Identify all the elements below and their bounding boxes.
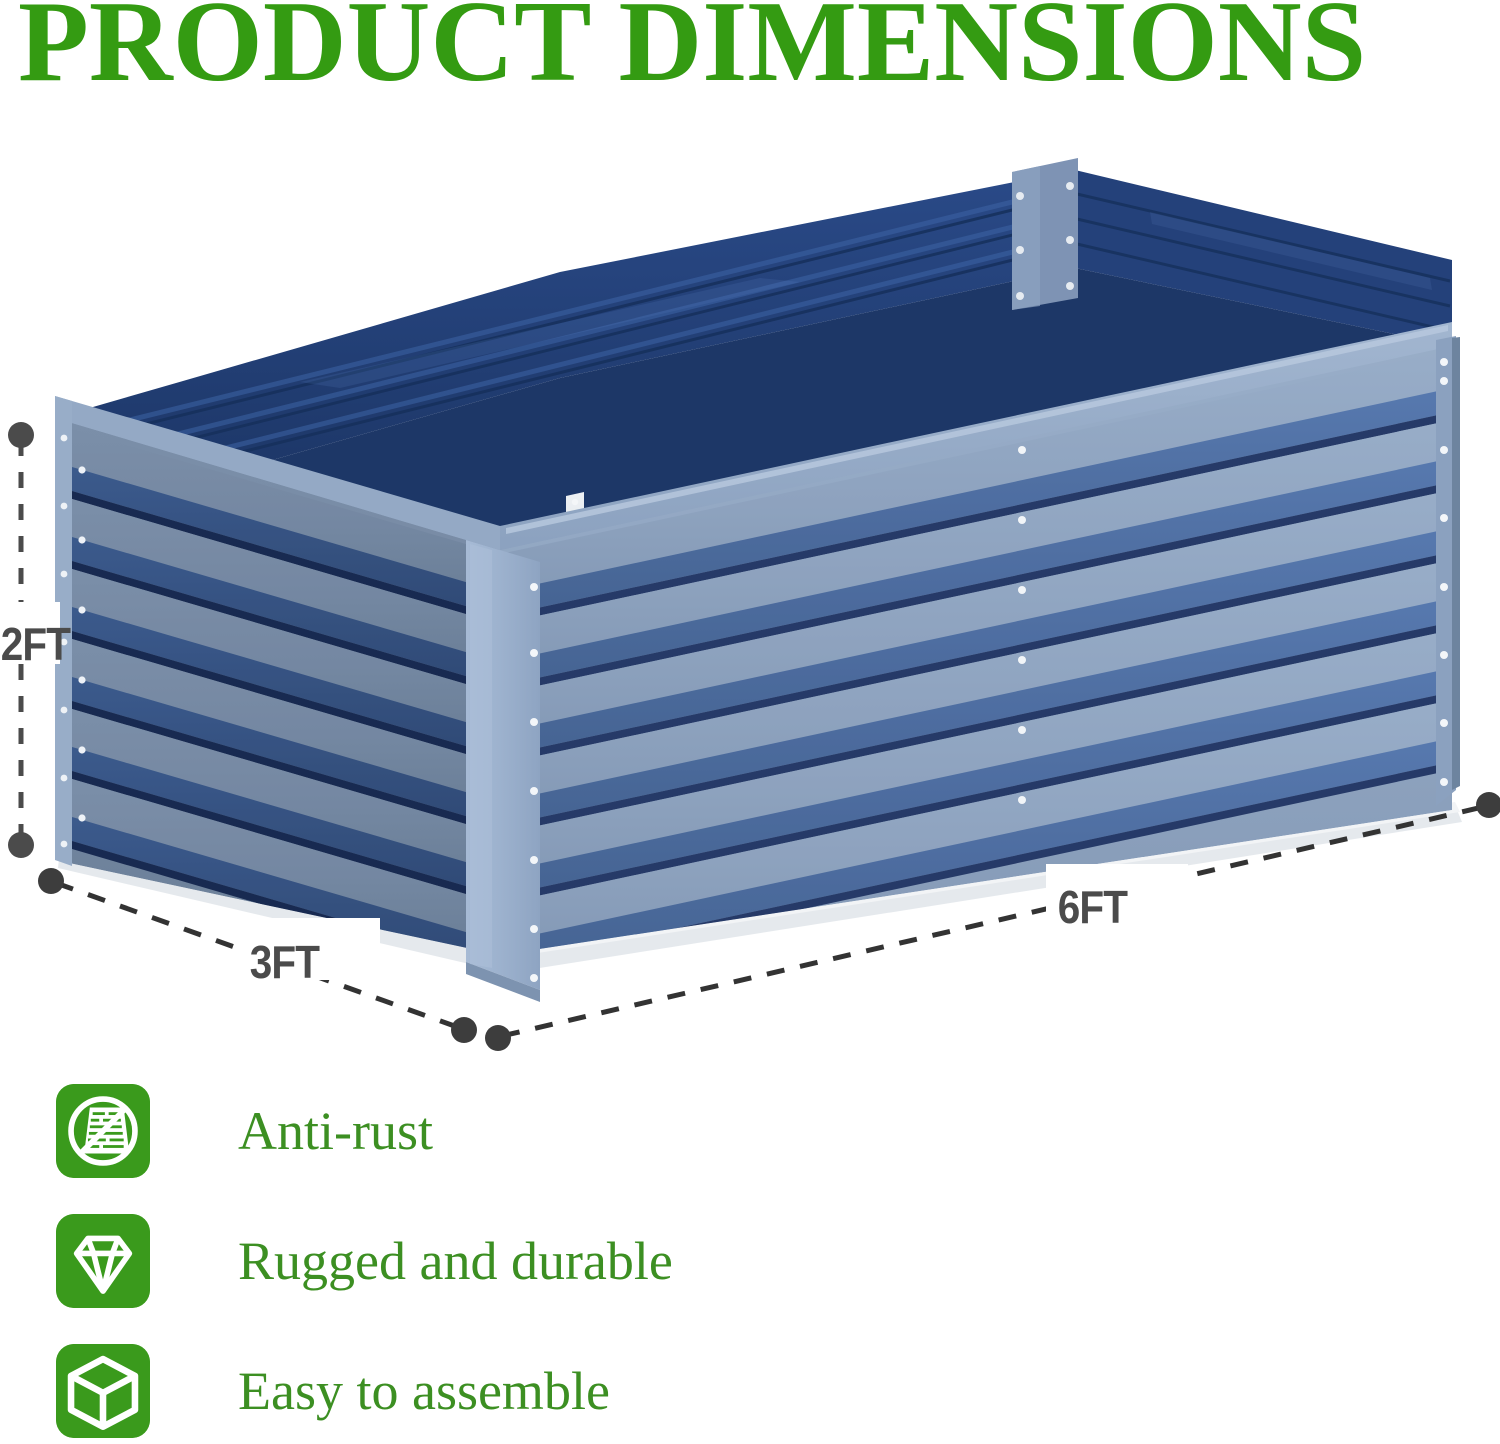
interior-post-back-right — [1012, 158, 1078, 310]
feature-label-assemble: Easy to assemble — [238, 1364, 610, 1418]
dimension-label-width: 3FT — [250, 935, 319, 989]
feature-list: Anti-rust Rugged and durabl — [0, 1075, 1500, 1444]
feature-label-anti-rust: Anti-rust — [238, 1104, 433, 1158]
page-title: PRODUCT DIMENSIONS — [18, 0, 1482, 95]
diamond-icon — [56, 1214, 150, 1308]
product-illustration — [0, 150, 1500, 1070]
feature-item-assemble: Easy to assemble — [56, 1343, 610, 1439]
dimension-endpoint-dot — [1476, 792, 1500, 818]
dimension-label-height: 2FT — [1, 617, 70, 671]
dimension-endpoint-dot — [451, 1017, 477, 1043]
product-dimensions-infographic: PRODUCT DIMENSIONS — [0, 0, 1500, 1444]
corner-post-right — [1436, 336, 1460, 806]
dimension-endpoint-dot — [8, 422, 34, 448]
dimension-label-length: 6FT — [1058, 880, 1127, 934]
feature-label-rugged: Rugged and durable — [238, 1234, 673, 1288]
dimension-endpoint-dot — [485, 1025, 511, 1051]
corner-post-front — [466, 540, 540, 1002]
box-3d-icon — [56, 1344, 150, 1438]
dimension-endpoint-dot — [38, 868, 64, 894]
dimension-endpoint-dot — [8, 832, 34, 858]
feature-item-anti-rust: Anti-rust — [56, 1083, 433, 1179]
feature-item-rugged: Rugged and durable — [56, 1213, 673, 1309]
no-rust-icon — [56, 1084, 150, 1178]
